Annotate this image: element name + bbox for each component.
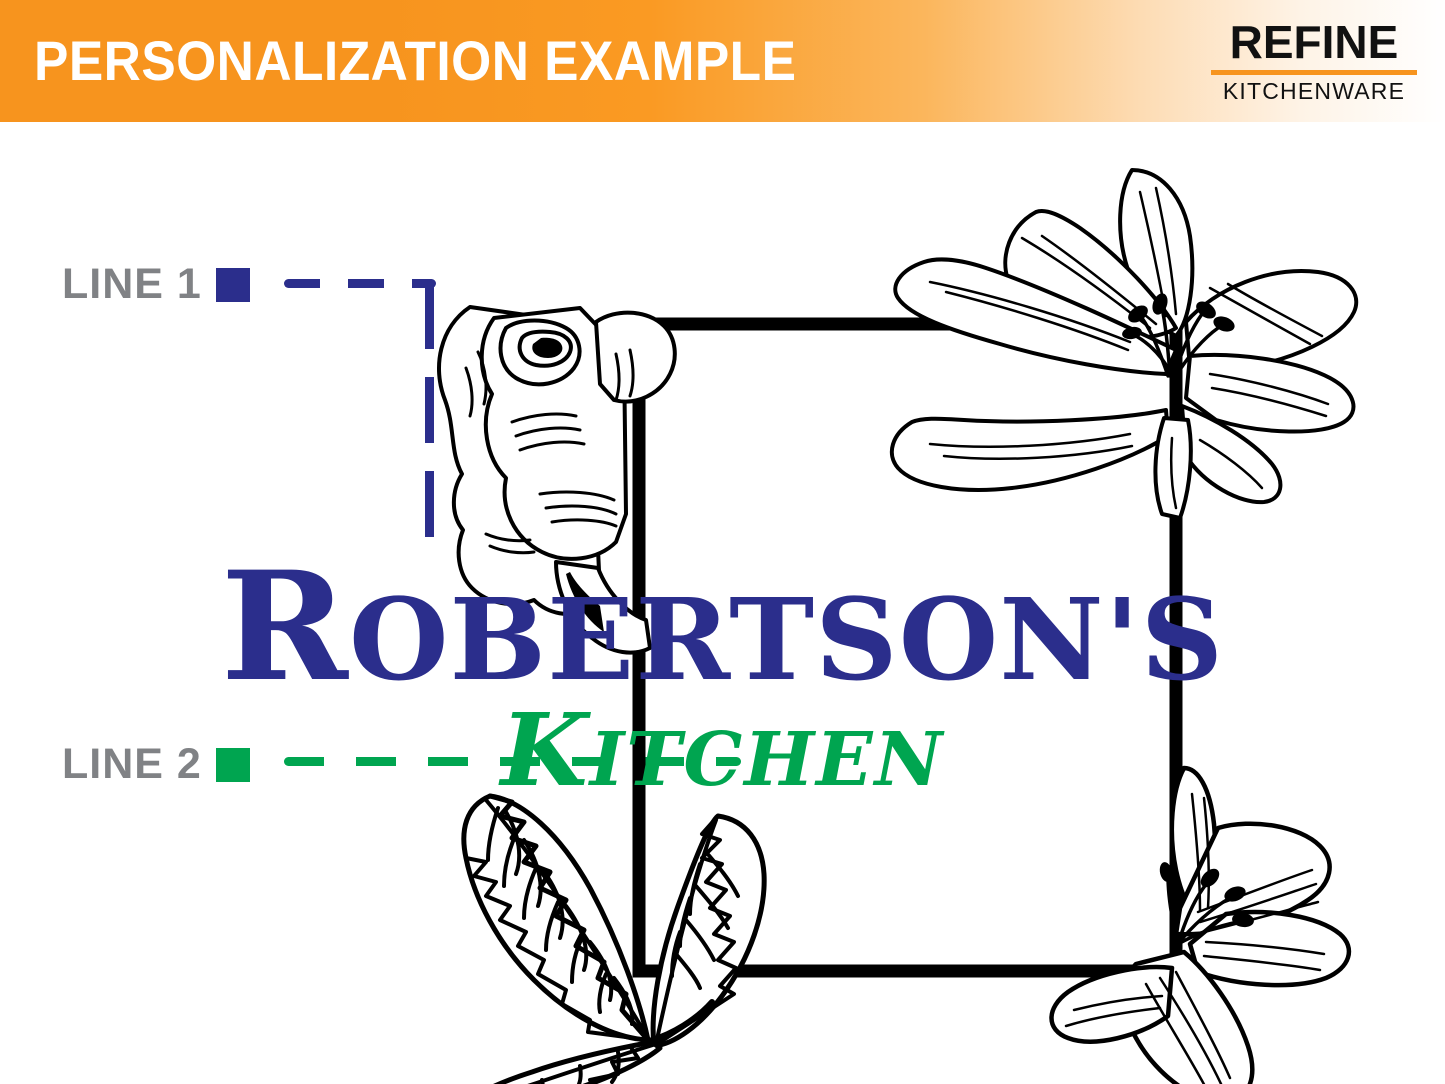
brand-logo: REFINE KITCHENWARE [1211, 20, 1417, 103]
lily-bottom-right-ornament-icon [1052, 768, 1349, 1084]
brand-subtitle: KITCHENWARE [1211, 80, 1417, 103]
line-1-rest: OBERTSON'S [349, 575, 1224, 706]
brand-divider [1211, 70, 1417, 75]
line-1-first-letter: R [221, 539, 349, 715]
line-2-first-letter: K [501, 691, 590, 809]
line-2-rest: ITCHEN [590, 717, 945, 803]
leaves-bottom-left-ornament-icon [460, 796, 764, 1084]
personalized-line-1: ROBERTSON'S [0, 552, 1445, 702]
personalized-line-2: KITCHEN [0, 700, 1445, 800]
lily-top-right-ornament-icon [892, 170, 1356, 542]
page-title: PERSONALIZATION EXAMPLE [34, 28, 796, 93]
brand-name: REFINE [1211, 20, 1417, 65]
personalization-example-canvas: PERSONALIZATION EXAMPLE REFINE KITCHENWA… [0, 0, 1445, 1084]
